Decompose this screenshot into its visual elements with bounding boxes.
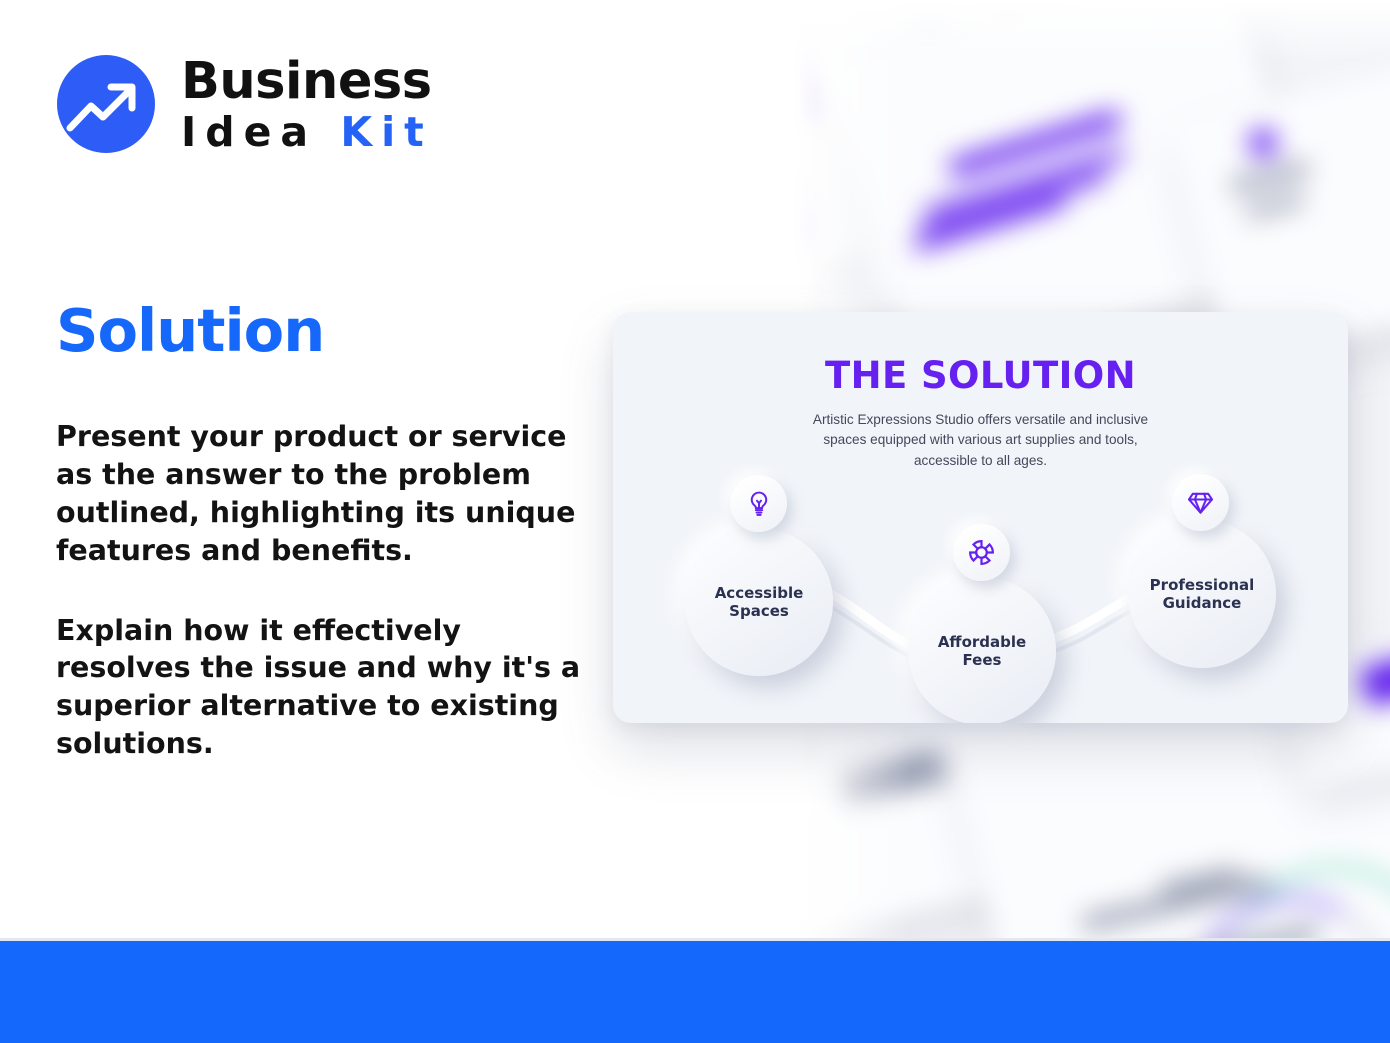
- solution-node-group: Accessible Spaces Affordable Fees: [613, 312, 1348, 723]
- brand-wordmark: Business Idea Kit: [181, 56, 433, 153]
- growth-arrow-circle-icon: [56, 54, 156, 154]
- body-paragraph-2: Explain how it effectively resolves the …: [56, 612, 586, 764]
- node-label: Affordable Fees: [938, 633, 1026, 670]
- brand-name-line1: Business: [181, 56, 433, 107]
- body-paragraph-1: Present your product or service as the a…: [56, 418, 586, 570]
- node-icon-badge-3: [1172, 474, 1229, 531]
- brand-name-kit: Kit: [340, 108, 432, 156]
- solution-card: THE SOLUTION Artistic Expressions Studio…: [613, 312, 1348, 723]
- brand-name-line2: Idea Kit: [181, 112, 433, 153]
- node-label: Professional Guidance: [1150, 576, 1255, 613]
- brand-logo: Business Idea Kit: [56, 54, 433, 154]
- slide-root: Business Idea Kit Solution Present your …: [0, 0, 1390, 1043]
- footer-bar: [0, 941, 1390, 1043]
- bg-dot: [1250, 130, 1276, 156]
- solution-node-accessible-spaces[interactable]: Accessible Spaces: [685, 528, 833, 676]
- solution-node-professional-guidance[interactable]: Professional Guidance: [1128, 520, 1276, 668]
- lifebuoy-icon: [967, 538, 996, 567]
- background-fade-top: [790, 0, 1390, 60]
- node-label: Accessible Spaces: [715, 584, 804, 621]
- solution-node-affordable-fees[interactable]: Affordable Fees: [908, 577, 1056, 723]
- page-title: Solution: [56, 296, 324, 365]
- node-icon-badge-1: [730, 475, 787, 532]
- brand-name-idea: Idea: [181, 108, 340, 156]
- lightbulb-icon: [745, 490, 773, 518]
- diamond-icon: [1186, 488, 1215, 517]
- body-copy: Present your product or service as the a…: [56, 418, 586, 763]
- node-icon-badge-2: [953, 524, 1010, 581]
